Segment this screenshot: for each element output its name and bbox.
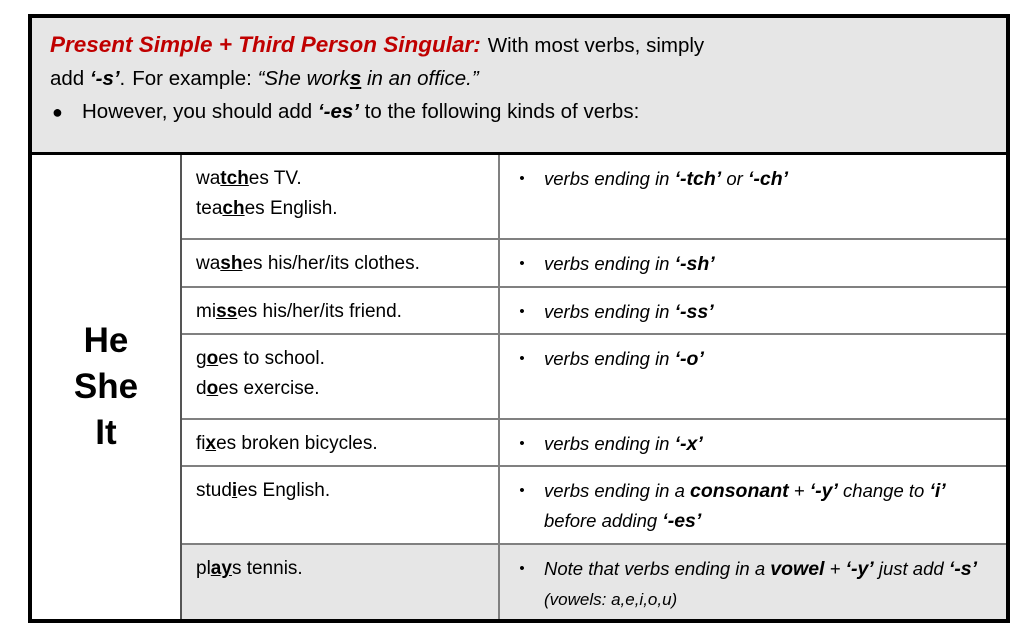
example-prefix: wa — [196, 253, 220, 274]
example-suffix: es to school. — [218, 348, 325, 369]
example-suffix: es his/her/its friend. — [237, 301, 402, 322]
rules-rows-column: watches TV. teaches English. • verbs end… — [182, 155, 1006, 619]
rule-bullet-icon: • — [500, 164, 544, 232]
example-highlight: tch — [220, 168, 249, 189]
rule-note-lead: Note that verbs ending in a — [544, 558, 770, 579]
rule-just-add-text: just add — [874, 558, 949, 579]
rule-code: ‘-x’ — [675, 433, 703, 455]
rule-code-y: ‘-y’ — [810, 480, 838, 502]
rule-vowel-list-note: (vowels: a,e,i,o,u) — [544, 590, 677, 609]
rule-text: verbs ending in ‘-tch’ or ‘-ch’ — [544, 164, 996, 232]
example-highlight: sh — [220, 253, 242, 274]
example-prefix: mi — [196, 301, 216, 322]
header-bullet-icon: ● — [50, 96, 82, 129]
example-suffix: es his/her/its clothes. — [242, 253, 419, 274]
example-line: fixes broken bicycles. — [196, 429, 488, 459]
example-highlight: o — [207, 348, 219, 369]
example-cell: watches TV. teaches English. — [182, 155, 500, 238]
header-following-text: to the following kinds of verbs: — [365, 100, 640, 123]
example-line: does exercise. — [196, 374, 488, 404]
rule-vowel-emphasis: vowel — [770, 558, 824, 580]
table-header-band: Present Simple + Third Person Singular:W… — [32, 18, 1006, 155]
example-prefix: tea — [196, 198, 222, 219]
table-row: washes his/her/its clothes. • verbs endi… — [182, 240, 1006, 288]
rule-code: ‘-ss’ — [675, 301, 714, 323]
example-suffix: es English. — [237, 480, 330, 501]
rule-consonant-emphasis: consonant — [690, 480, 789, 502]
header-s-suffix: ‘-s’ — [90, 67, 120, 90]
example-highlight: x — [206, 433, 217, 454]
rule-cell: • verbs ending in ‘-ss’ — [500, 288, 1006, 333]
example-line: watches TV. — [196, 164, 488, 194]
rule-text: verbs ending in a consonant + ‘-y’ chang… — [544, 476, 996, 538]
rule-code: ‘-sh’ — [675, 253, 715, 275]
header-add-word: add — [50, 67, 84, 90]
table-row: plays tennis. • Note that verbs ending i… — [182, 545, 1006, 619]
rule-cell: • Note that verbs ending in a vowel + ‘-… — [500, 545, 1006, 619]
rule-text: verbs ending in ‘-o’ — [544, 344, 996, 412]
table-body: He She It watches TV. teaches English. •… — [32, 155, 1006, 619]
example-suffix: es broken bicycles. — [216, 433, 378, 454]
rule-change-text: change to — [838, 480, 930, 501]
worksheet-page: Present Simple + Third Person Singular:W… — [0, 0, 1024, 633]
rule-conjunction: or — [721, 168, 748, 189]
header-example-quote-start: “She work — [258, 67, 350, 90]
example-cell: washes his/her/its clothes. — [182, 240, 500, 286]
example-suffix: s tennis. — [232, 558, 303, 579]
example-cell: misses his/her/its friend. — [182, 288, 500, 333]
header-line-2: add ‘-s’.For example: “She works in an o… — [50, 62, 988, 95]
example-line: goes to school. — [196, 344, 488, 374]
example-suffix: es English. — [245, 198, 338, 219]
rule-bullet-icon: • — [500, 554, 544, 613]
rule-bullet-icon: • — [500, 297, 544, 327]
rule-code: ‘-tch’ — [675, 168, 722, 190]
rule-cell: • verbs ending in ‘-sh’ — [500, 240, 1006, 286]
header-example-quote-s: s — [350, 67, 361, 90]
example-line: plays tennis. — [196, 554, 488, 584]
rule-text: verbs ending in ‘-ss’ — [544, 297, 996, 327]
table-row: goes to school. does exercise. • verbs e… — [182, 335, 1006, 420]
rule-bullet-icon: • — [500, 476, 544, 538]
example-line: teaches English. — [196, 194, 488, 224]
rule-lead: verbs ending in — [544, 348, 675, 369]
table-row: fixes broken bicycles. • verbs ending in… — [182, 420, 1006, 467]
rule-plus: + — [789, 480, 810, 501]
rule-code-y: ‘-y’ — [846, 558, 874, 580]
pronoun-she: She — [74, 364, 138, 410]
pronoun-it: It — [95, 410, 116, 456]
example-suffix: es exercise. — [218, 378, 319, 399]
example-prefix: stud — [196, 480, 232, 501]
header-for-example-label: For example: — [132, 67, 252, 90]
rule-lead: verbs ending in — [544, 301, 675, 322]
rule-code: ‘-o’ — [675, 348, 704, 370]
rule-cell: • verbs ending in ‘-o’ — [500, 335, 1006, 418]
example-line: misses his/her/its friend. — [196, 297, 488, 327]
pronoun-column: He She It — [32, 155, 182, 619]
header-line-1: Present Simple + Third Person Singular:W… — [50, 28, 988, 62]
example-prefix: fi — [196, 433, 206, 454]
example-highlight: ay — [211, 558, 232, 579]
rule-code-es: ‘-es’ — [662, 510, 701, 532]
example-prefix: d — [196, 378, 207, 399]
rule-before-adding-text: before adding — [544, 510, 662, 531]
grammar-rules-table: Present Simple + Third Person Singular:W… — [28, 14, 1010, 623]
rule-bullet-icon: • — [500, 429, 544, 459]
table-row: studies English. • verbs ending in a con… — [182, 467, 1006, 546]
header-title: Present Simple + Third Person Singular: — [50, 32, 481, 57]
rule-plus: + — [824, 558, 845, 579]
rule-bullet-icon: • — [500, 249, 544, 280]
rule-cell: • verbs ending in a consonant + ‘-y’ cha… — [500, 467, 1006, 544]
header-line-3: ● However, you should add ‘-es’ to the f… — [50, 95, 988, 129]
example-cell: goes to school. does exercise. — [182, 335, 500, 418]
example-cell: plays tennis. — [182, 545, 500, 619]
rule-code-s: ‘-s’ — [949, 558, 977, 580]
rule-cell: • verbs ending in ‘-x’ — [500, 420, 1006, 465]
rule-text: verbs ending in ‘-sh’ — [544, 249, 996, 280]
header-line-3-text: However, you should add ‘-es’ to the fol… — [82, 95, 639, 128]
rule-code-alt: ‘-ch’ — [748, 168, 788, 190]
rule-lead: verbs ending in — [544, 433, 675, 454]
rule-code-i: ‘i’ — [929, 480, 945, 502]
example-line: studies English. — [196, 476, 488, 506]
header-example-quote-end: in an office.” — [361, 67, 478, 90]
header-line-1-text: With most verbs, simply — [488, 34, 704, 57]
example-prefix: wa — [196, 168, 220, 189]
rule-lead: verbs ending in a — [544, 480, 690, 501]
header-however-text: However, you should add — [82, 100, 312, 123]
rule-text: Note that verbs ending in a vowel + ‘-y’… — [544, 554, 996, 613]
header-es-suffix: ‘-es’ — [318, 100, 359, 123]
example-prefix: pl — [196, 558, 211, 579]
header-line2-period: . — [120, 67, 126, 90]
example-cell: studies English. — [182, 467, 500, 544]
pronoun-he: He — [84, 318, 129, 364]
example-highlight: ch — [222, 198, 244, 219]
header-example-quote: “She works in an office.” — [258, 67, 479, 90]
example-line: washes his/her/its clothes. — [196, 249, 488, 279]
rule-cell: • verbs ending in ‘-tch’ or ‘-ch’ — [500, 155, 1006, 238]
example-prefix: g — [196, 348, 207, 369]
example-cell: fixes broken bicycles. — [182, 420, 500, 465]
example-suffix: es TV. — [249, 168, 302, 189]
rule-text: verbs ending in ‘-x’ — [544, 429, 996, 459]
rule-bullet-icon: • — [500, 344, 544, 412]
example-highlight: o — [207, 378, 219, 399]
rule-lead: verbs ending in — [544, 253, 675, 274]
table-row: misses his/her/its friend. • verbs endin… — [182, 288, 1006, 335]
example-highlight: ss — [216, 301, 237, 322]
table-row: watches TV. teaches English. • verbs end… — [182, 155, 1006, 240]
rule-lead: verbs ending in — [544, 168, 675, 189]
